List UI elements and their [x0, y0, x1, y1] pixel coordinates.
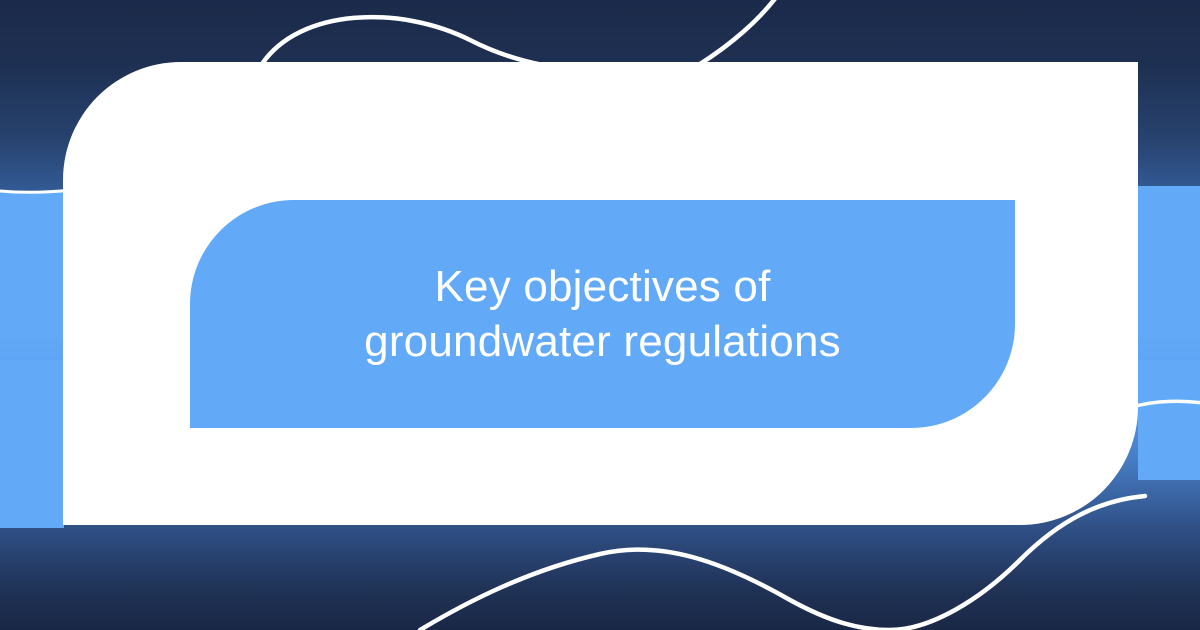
page-title: Key objectives of groundwater regulation…	[364, 259, 841, 369]
title-plate: Key objectives of groundwater regulation…	[190, 200, 1015, 428]
right-accent-strip-lower	[1138, 360, 1200, 480]
right-accent-strip-upper	[1138, 186, 1200, 338]
left-accent-strip-upper	[0, 192, 64, 338]
banner-canvas: Key objectives of groundwater regulation…	[0, 0, 1200, 630]
page-title-line-2: groundwater regulations	[364, 317, 841, 366]
page-title-line-1: Key objectives of	[434, 262, 770, 311]
left-accent-strip-lower	[0, 360, 64, 528]
